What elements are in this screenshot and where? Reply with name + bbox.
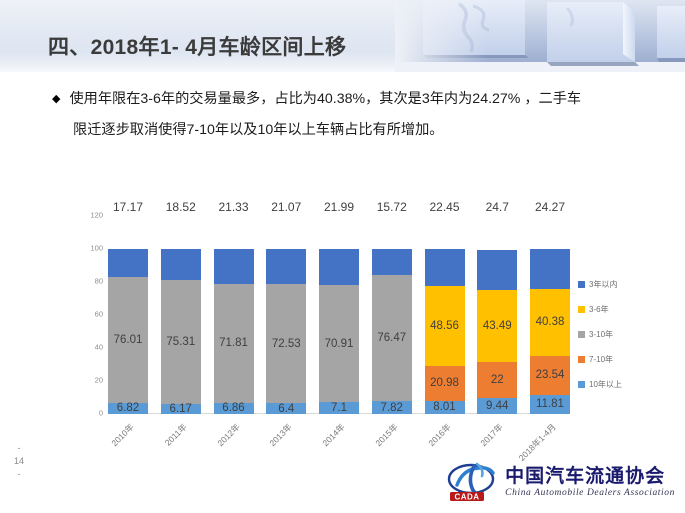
chart-bar-segment[interactable]: 7.82 xyxy=(372,401,412,414)
legend-item[interactable]: 3年以内 xyxy=(578,272,673,297)
age-distribution-stacked-bar-chart: 020406080100120 76.016.8217.172010年75.31… xyxy=(78,172,608,472)
y-axis-tick-label: 120 xyxy=(90,211,103,220)
legend-color-swatch xyxy=(578,381,585,388)
legend-item[interactable]: 3-6年 xyxy=(578,297,673,322)
chart-bar-segment[interactable]: 9.44 xyxy=(477,398,517,414)
chart-segment-value-label: 7.1 xyxy=(331,402,347,414)
slide-header-band: 四、2018年1- 4月车龄区间上移 xyxy=(0,0,685,72)
y-axis-tick-label: 20 xyxy=(95,376,103,385)
legend-item-label: 3-6年 xyxy=(589,304,609,315)
chart-segment-value-label: 6.17 xyxy=(170,403,192,415)
legend-item-label: 7-10年 xyxy=(589,354,613,365)
chart-bar-segment[interactable]: 6.17 xyxy=(161,404,201,414)
chart-segment-value-label: 76.47 xyxy=(377,332,406,344)
legend-item[interactable]: 10年以上 xyxy=(578,372,673,397)
chart-bar-segment[interactable] xyxy=(530,249,570,289)
bullet-item-1: ◆ 使用年限在3-6年的交易量最多，占比为40.38%，其次是3年内为24.27… xyxy=(52,84,652,115)
chart-segment-value-label: 7.82 xyxy=(381,402,403,414)
chart-plot-area: 020406080100120 76.016.8217.172010年75.31… xyxy=(108,216,570,414)
chart-total-value-label: 24.7 xyxy=(486,200,509,214)
chart-bar-segment[interactable] xyxy=(425,249,465,286)
chart-bar-segment[interactable] xyxy=(266,249,306,284)
chart-bar-segment[interactable]: 6.4 xyxy=(266,403,306,414)
chart-bar-segment[interactable]: 20.98 xyxy=(425,366,465,401)
chart-bar-segment[interactable] xyxy=(477,250,517,291)
cada-logo-icon: CADA xyxy=(447,461,499,503)
chart-bar-segment[interactable]: 76.47 xyxy=(372,275,412,401)
chart-bar-segment[interactable] xyxy=(161,249,201,280)
chart-bar-column[interactable]: 76.477.8215.722015年 xyxy=(372,216,412,414)
chart-segment-value-label: 48.56 xyxy=(430,320,459,332)
chart-bar-segment[interactable]: 7.1 xyxy=(319,402,359,414)
diamond-bullet-icon: ◆ xyxy=(52,84,60,115)
chart-total-value-label: 24.27 xyxy=(535,200,565,214)
chart-bar-segment[interactable]: 6.86 xyxy=(214,403,254,414)
chart-total-value-label: 21.99 xyxy=(324,200,354,214)
chart-bar-column[interactable]: 48.5620.988.0122.452016年 xyxy=(425,216,465,414)
page-number: - 14 - xyxy=(12,442,26,481)
chart-bar-column[interactable]: 43.49229.4424.72017年 xyxy=(477,216,517,414)
chart-segment-value-label: 76.01 xyxy=(114,334,143,346)
chart-total-value-label: 18.52 xyxy=(166,200,196,214)
chart-total-value-label: 21.07 xyxy=(271,200,301,214)
legend-item-label: 3年以内 xyxy=(589,279,617,290)
chart-bar-column[interactable]: 75.316.1718.522011年 xyxy=(161,216,201,414)
chart-segment-value-label: 23.54 xyxy=(536,369,565,381)
x-axis-tick-label: 2015年 xyxy=(372,421,400,449)
x-axis-tick-label: 2018年1-4月 xyxy=(516,421,559,464)
bullet-text-line-1: 使用年限在3-6年的交易量最多，占比为40.38%，其次是3年内为24.27% … xyxy=(69,84,581,115)
chart-bar-segment[interactable]: 71.81 xyxy=(214,284,254,402)
page-title: 四、2018年1- 4月车龄区间上移 xyxy=(48,31,346,61)
legend-color-swatch xyxy=(578,306,585,313)
chart-total-value-label: 15.72 xyxy=(377,200,407,214)
chart-segment-value-label: 9.44 xyxy=(486,400,508,412)
chart-segment-value-label: 70.91 xyxy=(325,338,354,350)
svg-text:CADA: CADA xyxy=(455,492,480,501)
chart-total-value-label: 21.33 xyxy=(218,200,248,214)
legend-item[interactable]: 7-10年 xyxy=(578,347,673,372)
chart-segment-value-label: 6.86 xyxy=(222,402,244,414)
chart-segment-value-label: 72.53 xyxy=(272,338,301,350)
chart-bar-segment[interactable]: 11.81 xyxy=(530,395,570,414)
legend-color-swatch xyxy=(578,331,585,338)
y-axis-tick-label: 0 xyxy=(99,409,103,418)
chart-segment-value-label: 8.01 xyxy=(433,401,455,413)
bullet-text-block: ◆ 使用年限在3-6年的交易量最多，占比为40.38%，其次是3年内为24.27… xyxy=(52,84,652,146)
chart-segment-value-label: 6.4 xyxy=(278,403,294,415)
chart-bar-segment[interactable] xyxy=(214,249,254,284)
chart-bar-segment[interactable]: 6.82 xyxy=(108,403,148,414)
chart-bar-segment[interactable]: 70.91 xyxy=(319,285,359,402)
chart-bar-segment[interactable] xyxy=(319,249,359,285)
chart-bar-column[interactable]: 76.016.8217.172010年 xyxy=(108,216,148,414)
x-axis-tick-label: 2012年 xyxy=(214,421,242,449)
y-axis-tick-label: 60 xyxy=(95,310,103,319)
chart-legend: 3年以内3-6年3-10年7-10年10年以上 xyxy=(578,272,673,397)
chart-bar-column[interactable]: 40.3823.5411.8124.272018年1-4月 xyxy=(530,216,570,414)
y-axis-tick-label: 40 xyxy=(95,343,103,352)
legend-color-swatch xyxy=(578,281,585,288)
chart-bar-segment[interactable]: 43.49 xyxy=(477,290,517,362)
chart-bar-segment[interactable]: 72.53 xyxy=(266,284,306,404)
bullet-text-line-2: 限迁逐步取消使得7-10年以及10年以上车辆占比有所增加。 xyxy=(52,115,652,146)
x-axis-tick-label: 2010年 xyxy=(109,421,137,449)
chart-total-value-label: 17.17 xyxy=(113,200,143,214)
chart-bar-segment[interactable]: 22 xyxy=(477,362,517,398)
chart-segment-value-label: 20.98 xyxy=(430,377,459,389)
chart-bars-container: 76.016.8217.172010年75.316.1718.522011年71… xyxy=(108,216,570,414)
chart-segment-value-label: 22 xyxy=(491,374,504,386)
legend-item-label: 3-10年 xyxy=(589,329,613,340)
y-axis-tick-label: 100 xyxy=(90,244,103,253)
legend-item[interactable]: 3-10年 xyxy=(578,322,673,347)
chart-segment-value-label: 6.82 xyxy=(117,402,139,414)
chart-bar-segment[interactable]: 75.31 xyxy=(161,280,201,404)
chart-segment-value-label: 75.31 xyxy=(166,336,195,348)
chart-segment-value-label: 11.81 xyxy=(536,398,564,410)
chart-segment-value-label: 40.38 xyxy=(536,316,565,328)
chart-total-value-label: 22.45 xyxy=(429,200,459,214)
x-axis-tick-label: 2017年 xyxy=(478,421,506,449)
legend-color-swatch xyxy=(578,356,585,363)
chart-bar-segment[interactable]: 23.54 xyxy=(530,356,570,395)
chart-bar-column[interactable]: 72.536.421.072013年 xyxy=(266,216,306,414)
chart-bar-column[interactable]: 70.917.121.992014年 xyxy=(319,216,359,414)
logo-chinese-name: 中国汽车流通协会 xyxy=(505,466,675,487)
y-axis-tick-label: 80 xyxy=(95,277,103,286)
chart-bar-column[interactable]: 71.816.8621.332012年 xyxy=(214,216,254,414)
chart-bar-segment[interactable]: 76.01 xyxy=(108,277,148,402)
chart-bar-segment[interactable]: 40.38 xyxy=(530,289,570,356)
legend-item-label: 10年以上 xyxy=(589,379,622,390)
chart-bar-segment[interactable] xyxy=(372,249,412,275)
chart-bar-segment[interactable] xyxy=(108,249,148,277)
x-axis-tick-label: 2011年 xyxy=(162,421,189,448)
x-axis-tick-label: 2016年 xyxy=(425,421,453,449)
chart-bar-segment[interactable]: 8.01 xyxy=(425,401,465,414)
x-axis-tick-label: 2014年 xyxy=(320,421,348,449)
header-decorative-cubes-image xyxy=(395,0,685,72)
cada-logo: CADA 中国汽车流通协会 China Automobile Dealers A… xyxy=(447,459,675,505)
chart-bar-segment[interactable]: 48.56 xyxy=(425,286,465,366)
chart-segment-value-label: 43.49 xyxy=(483,320,512,332)
logo-english-name: China Automobile Dealers Association xyxy=(505,487,675,499)
chart-segment-value-label: 71.81 xyxy=(219,337,248,349)
x-axis-tick-label: 2013年 xyxy=(267,421,295,449)
